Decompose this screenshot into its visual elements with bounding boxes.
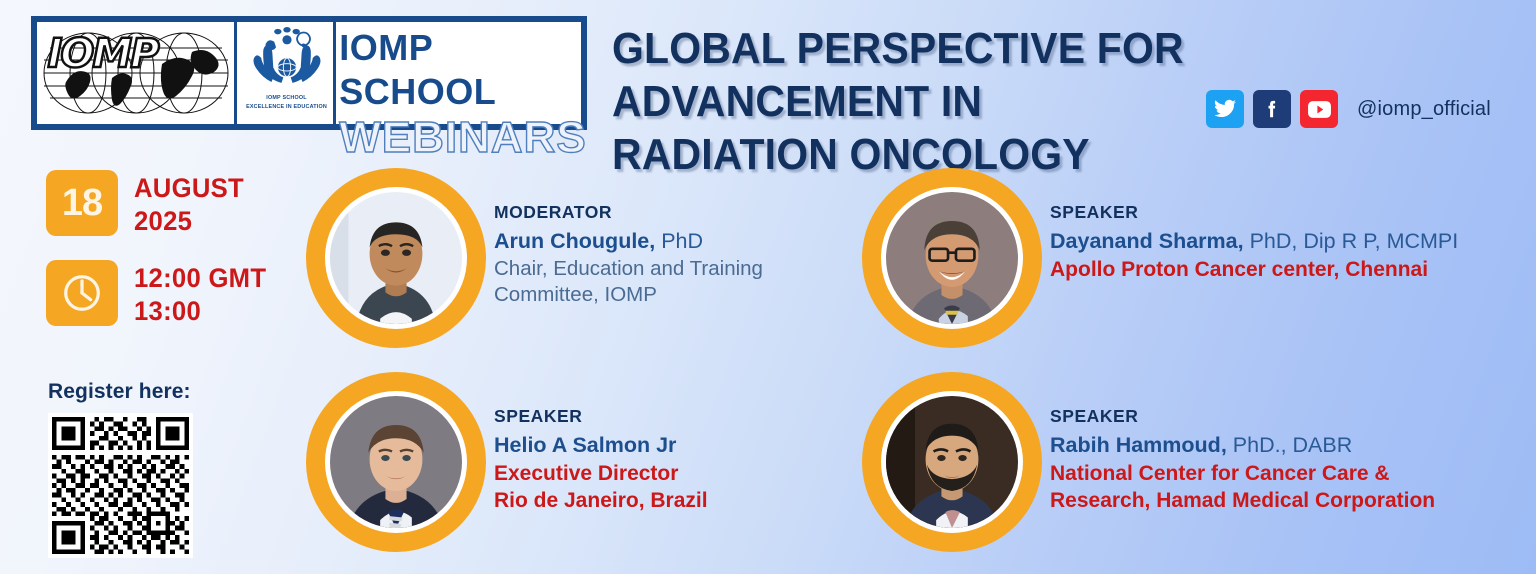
- iomp-logo-bar: IOMP: [31, 16, 587, 130]
- person-affiliation: Executive Director Rio de Janeiro, Brazi…: [494, 460, 824, 514]
- clock-tile: [46, 260, 118, 326]
- person-role: SPEAKER: [1050, 406, 1480, 427]
- person-affiliation: Apollo Proton Cancer center, Chennai: [1050, 256, 1480, 283]
- person-name: Dayanand Sharma,: [1050, 229, 1244, 253]
- webinars-wordmark-cell: IOMP SCHOOL WEBINARS: [339, 22, 581, 124]
- iomp-globes-icon: IOMP: [42, 30, 230, 116]
- event-meta: 18 AUGUST 2025 12:00 GMT 13:00: [46, 170, 273, 350]
- person-credentials: PhD: [661, 229, 703, 253]
- person-affiliation: National Center for Cancer Care & Resear…: [1050, 460, 1480, 514]
- emblem-caption-line1: IOMP SCHOOL: [266, 94, 306, 102]
- twitter-bird-glyph: [1213, 97, 1237, 121]
- avatar: [325, 187, 467, 329]
- emblem-caption-line2: EXCELLENCE IN EDUCATION: [246, 103, 327, 111]
- social-links: @iomp_official: [1206, 90, 1491, 128]
- iomp-school-logo-cell: IOMP SCHOOL EXCELLENCE IN EDUCATION: [240, 22, 336, 124]
- person-details: MODERATOR Arun Chougule, PhD Chair, Educ…: [494, 168, 824, 308]
- register-block: Register here:: [48, 380, 193, 558]
- person-name-line: Dayanand Sharma, PhD, Dip R P, MCMPI: [1050, 228, 1480, 255]
- person-details: SPEAKER Helio A Salmon Jr Executive Dire…: [494, 372, 824, 514]
- social-handle: @iomp_official: [1357, 98, 1491, 121]
- webinar-banner: IOMP: [0, 0, 1536, 574]
- person-card-speaker-3: SPEAKER Rabih Hammoud, PhD., DABR Nation…: [862, 372, 1480, 552]
- facebook-icon[interactable]: [1253, 90, 1291, 128]
- event-time-row: 12:00 GMT 13:00: [46, 260, 273, 328]
- facebook-f-glyph: [1261, 98, 1283, 120]
- event-date-row: 18 AUGUST 2025: [46, 170, 273, 238]
- person-name-line: Rabih Hammoud, PhD., DABR: [1050, 432, 1480, 459]
- portrait-dayanand-sharma: [886, 192, 1018, 324]
- person-name-line: Arun Chougule, PhD: [494, 228, 824, 255]
- registration-qr-code[interactable]: [48, 413, 193, 558]
- avatar-ring: [306, 168, 486, 348]
- event-time-text: 12:00 GMT 13:00: [134, 260, 266, 328]
- person-name: Arun Chougule,: [494, 229, 655, 253]
- avatar-ring: [862, 372, 1042, 552]
- person-card-speaker-2: SPEAKER Helio A Salmon Jr Executive Dire…: [306, 372, 824, 552]
- avatar: [881, 391, 1023, 533]
- iomp-wordmark-text: IOMP: [48, 34, 158, 74]
- person-card-speaker-1: SPEAKER Dayanand Sharma, PhD, Dip R P, M…: [862, 168, 1480, 348]
- twitter-icon[interactable]: [1206, 90, 1244, 128]
- clock-icon: [59, 270, 105, 316]
- event-day-number: 18: [62, 182, 102, 225]
- calendar-day-tile: 18: [46, 170, 118, 236]
- person-credentials: PhD., DABR: [1233, 433, 1352, 457]
- webinars-wordmark: IOMP SCHOOL WEBINARS: [333, 26, 587, 120]
- iomp-school-emblem-icon: IOMP SCHOOL EXCELLENCE IN EDUCATION: [242, 23, 332, 123]
- person-details: SPEAKER Dayanand Sharma, PhD, Dip R P, M…: [1050, 168, 1480, 283]
- avatar: [325, 391, 467, 533]
- youtube-play-glyph: [1307, 100, 1332, 119]
- portrait-helio-salmon: [330, 396, 462, 528]
- iomp-globe-logo-cell: IOMP: [37, 22, 237, 124]
- register-label: Register here:: [48, 380, 193, 404]
- person-card-moderator: MODERATOR Arun Chougule, PhD Chair, Educ…: [306, 168, 824, 348]
- avatar-ring: [306, 372, 486, 552]
- person-name: Helio A Salmon Jr: [494, 433, 676, 457]
- portrait-rabih-hammoud: [886, 396, 1018, 528]
- person-credentials: PhD, Dip R P, MCMPI: [1250, 229, 1459, 253]
- person-name: Rabih Hammoud,: [1050, 433, 1227, 457]
- person-details: SPEAKER Rabih Hammoud, PhD., DABR Nation…: [1050, 372, 1480, 514]
- person-role: MODERATOR: [494, 202, 824, 223]
- youtube-icon[interactable]: [1300, 90, 1338, 128]
- wordmark-webinars: WEBINARS: [339, 114, 587, 162]
- person-affiliation: Chair, Education and Training Committee,…: [494, 256, 824, 308]
- person-name-line: Helio A Salmon Jr: [494, 432, 824, 459]
- avatar: [881, 187, 1023, 329]
- banner-header: IOMP: [0, 0, 1536, 150]
- event-date-text: AUGUST 2025: [134, 170, 244, 238]
- wordmark-iomp-school: IOMP SCHOOL: [339, 26, 587, 114]
- hands-globe-icon: [250, 27, 324, 93]
- portrait-arun-chougule: [330, 192, 462, 324]
- avatar-ring: [862, 168, 1042, 348]
- person-role: SPEAKER: [494, 406, 824, 427]
- person-role: SPEAKER: [1050, 202, 1480, 223]
- qr-code-graphic: [52, 417, 189, 554]
